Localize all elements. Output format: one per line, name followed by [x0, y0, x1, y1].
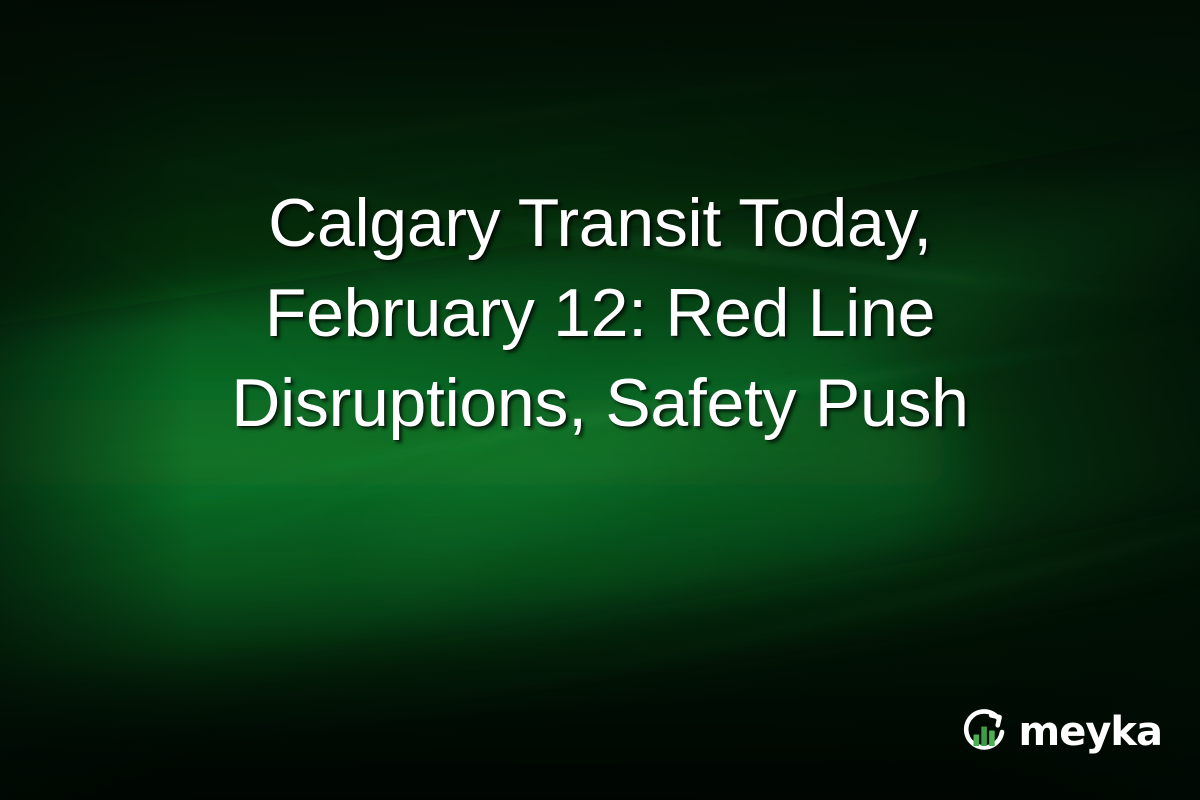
title-line-3: Disruptions, Safety Push	[60, 358, 1140, 448]
banner-title: Calgary Transit Today, February 12: Red …	[0, 178, 1200, 448]
title-line-2: February 12: Red Line	[60, 268, 1140, 358]
title-line-1: Calgary Transit Today,	[60, 178, 1140, 268]
brand-logo[interactable]: meyka	[958, 706, 1162, 758]
banner-canvas: Calgary Transit Today, February 12: Red …	[0, 0, 1200, 800]
brand-wordmark: meyka	[1019, 712, 1162, 752]
meyka-circle-bars-logo-icon	[958, 706, 1010, 758]
